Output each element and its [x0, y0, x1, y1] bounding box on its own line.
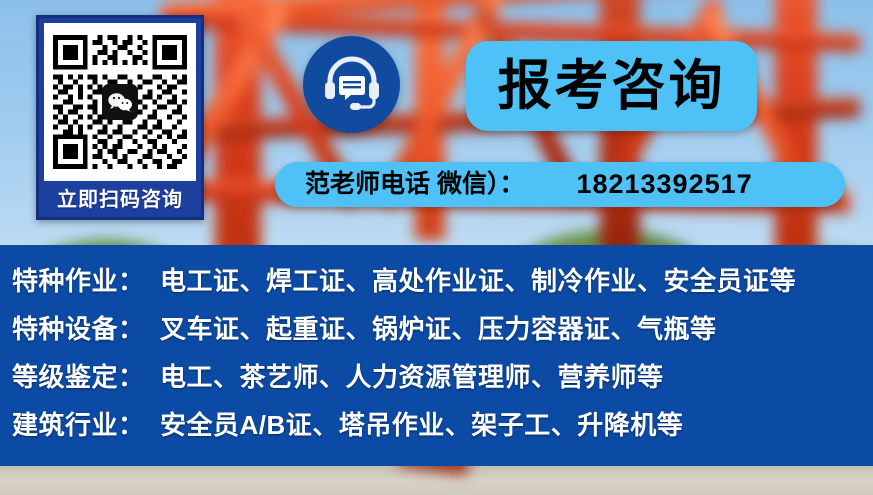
contact-phone-number[interactable]: 18213392517 — [576, 171, 752, 198]
info-category-label: 特种作业： — [12, 261, 160, 298]
qr-code-card[interactable]: 立即扫码咨询 — [36, 15, 204, 220]
wechat-icon — [102, 84, 138, 120]
headline-text: 报考咨询 — [498, 59, 726, 113]
info-value-text: 叉车证、起重证、锅炉证、压力容器证、气瓶等 — [160, 309, 717, 346]
certification-info-panel: 特种作业： 电工证、焊工证、高处作业证、制冷作业、安全员证等 特种设备： 叉车证… — [0, 245, 873, 466]
qr-code-image[interactable] — [44, 23, 196, 181]
headset-chat-icon — [322, 56, 382, 114]
contact-label: 范老师电话 微信）： — [305, 172, 524, 197]
info-row-special-equipment: 特种设备： 叉车证、起重证、锅炉证、压力容器证、气瓶等 — [0, 309, 873, 357]
info-row-grade-assessment: 等级鉴定： 电工、茶艺师、人力资源管理师、营养师等 — [0, 357, 873, 405]
qr-matrix — [48, 30, 192, 174]
qr-card-label: 立即扫码咨询 — [57, 190, 183, 210]
promotional-poster: 立即扫码咨询 报考咨询 范老师电话 微信）： 18213392517 特种作业：… — [0, 0, 873, 495]
info-category-label: 特种设备： — [12, 309, 160, 346]
info-row-special-operations: 特种作业： 电工证、焊工证、高处作业证、制冷作业、安全员证等 — [0, 261, 873, 309]
wechat-glyph — [107, 92, 133, 112]
headset-support-badge — [303, 36, 400, 133]
info-value-text: 电工证、焊工证、高处作业证、制冷作业、安全员证等 — [160, 261, 796, 298]
headline-pill: 报考咨询 — [466, 41, 757, 131]
info-row-construction-industry: 建筑行业： 安全员A/B证、塔吊作业、架子工、升降机等 — [0, 405, 873, 453]
info-category-label: 建筑行业： — [12, 405, 160, 442]
info-category-label: 等级鉴定： — [12, 357, 160, 394]
info-value-text: 电工、茶艺师、人力资源管理师、营养师等 — [160, 357, 664, 394]
contact-phone-pill[interactable]: 范老师电话 微信）： 18213392517 — [275, 162, 845, 207]
info-value-text: 安全员A/B证、塔吊作业、架子工、升降机等 — [160, 405, 683, 442]
